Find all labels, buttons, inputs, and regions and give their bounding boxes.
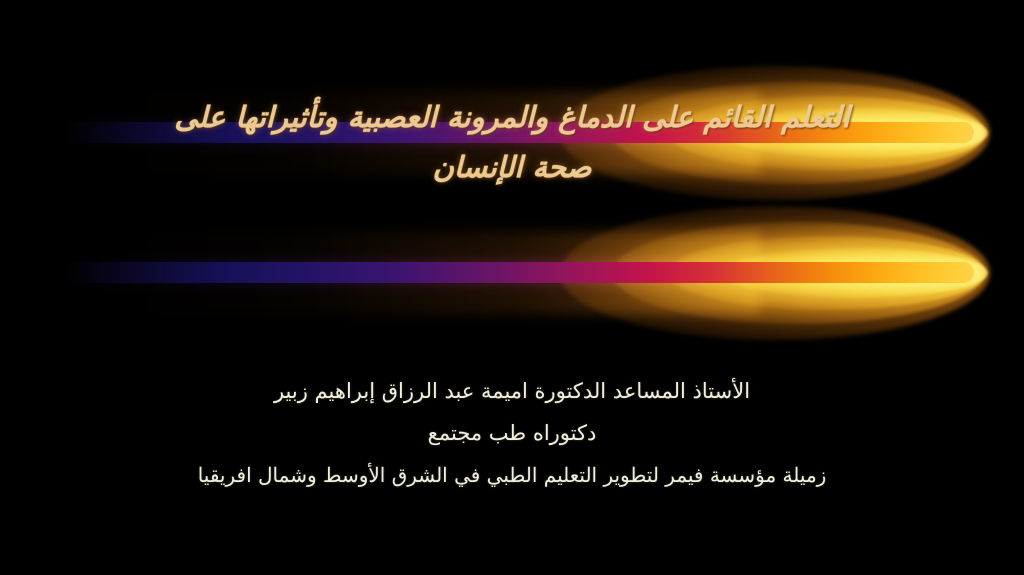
comet-halo-ring-4 — [722, 248, 988, 298]
comet-halo-trail — [120, 232, 760, 314]
author-fellowship-line: زميلة مؤسسة فيمر لتطوير التعليم الطبي في… — [0, 454, 1024, 496]
comet-swoosh-bottom — [0, 198, 1024, 348]
slide-title: التعلم القائم على الدماغ والمرونة العصبي… — [62, 92, 962, 192]
presentation-slide: التعلم القائم على الدماغ والمرونة العصبي… — [0, 0, 1024, 575]
comet-beam-glow — [66, 258, 978, 287]
comet-halo-ring-3 — [668, 236, 986, 310]
author-name-line: الأستاذ المساعد الدكتورة اميمة عبد الرزا… — [0, 370, 1024, 412]
comet-halo-ring-1 — [560, 206, 990, 340]
slide-title-line-2: صحة الإنسان — [62, 142, 962, 192]
comet-beam-core — [66, 262, 974, 283]
comet-halo-ring-2 — [612, 222, 984, 324]
slide-author-block: الأستاذ المساعد الدكتورة اميمة عبد الرزا… — [0, 370, 1024, 496]
author-degree-line: دكتوراه طب مجتمع — [0, 412, 1024, 454]
slide-title-line-1: التعلم القائم على الدماغ والمرونة العصبي… — [62, 92, 962, 142]
